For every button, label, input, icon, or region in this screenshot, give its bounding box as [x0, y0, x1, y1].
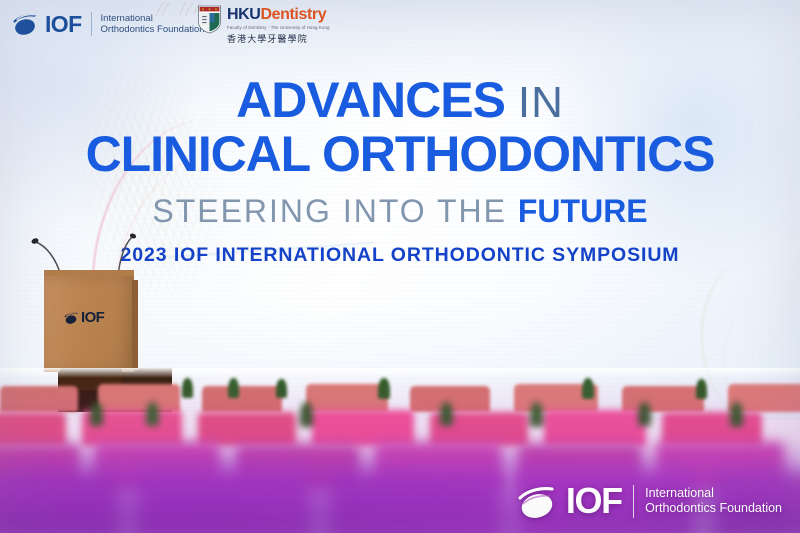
- water-bottle: [638, 402, 651, 426]
- iof-abbrev-top: IOF: [45, 13, 82, 36]
- iof-fullname-line1: International: [101, 13, 205, 24]
- hku-title-row: HKUDentistry: [227, 7, 330, 23]
- water-bottle: [276, 379, 287, 398]
- iof-swoosh-icon: [12, 13, 38, 35]
- hku-wordmark: HKUDentistry Faculty of Dentistry · The …: [227, 4, 330, 45]
- water-bottle: [228, 378, 239, 398]
- podium-iof-logo: IOF: [64, 310, 104, 325]
- water-bottle: [582, 378, 594, 399]
- iof-abbrev-bottom: IOF: [566, 483, 622, 519]
- tagline-light-part: STEERING INTO THE: [152, 193, 518, 229]
- iof-swoosh-icon: [64, 312, 78, 324]
- event-tagline: STEERING INTO THE FUTURE: [0, 193, 800, 230]
- tagline-future: FUTURE: [518, 193, 648, 229]
- iof-swoosh-icon: [517, 485, 557, 518]
- hku-abbrev: HKU: [227, 6, 260, 23]
- iof-logo-bottom: IOF International Orthodontics Foundatio…: [517, 483, 782, 519]
- chair: [0, 472, 120, 533]
- hku-dentistry-logo: HKUDentistry Faculty of Dentistry · The …: [197, 4, 330, 45]
- hku-shield-crest-icon: [197, 4, 222, 34]
- hku-chinese-name: 香港大學牙醫學院: [227, 32, 330, 45]
- iof-divider-bottom: [633, 485, 634, 518]
- hku-faculty-line: Faculty of Dentistry · The University of…: [227, 25, 330, 30]
- water-bottle: [440, 402, 453, 426]
- sponsor-logo-bar: IOF International Orthodontics Foundatio…: [0, 0, 800, 46]
- water-bottle: [696, 379, 707, 399]
- title-in: IN: [518, 78, 564, 127]
- iof-fullname-top: International Orthodontics Foundation: [101, 13, 205, 36]
- title-line-2: CLINICAL ORTHODONTICS: [0, 127, 800, 181]
- conference-stage-photo: IOF International Orthodontics Foundatio…: [0, 0, 800, 533]
- chair: [328, 472, 502, 533]
- water-bottle: [146, 402, 159, 426]
- water-bottle: [530, 402, 543, 427]
- water-bottle: [182, 378, 193, 398]
- hku-dentistry-word: Dentistry: [260, 6, 326, 23]
- iof-fullname-bottom: International Orthodontics Foundation: [645, 486, 782, 516]
- water-bottle: [378, 378, 390, 399]
- title-line-1: ADVANCES IN: [0, 74, 800, 129]
- chair: [136, 470, 312, 533]
- podium-side-panel: [132, 280, 138, 370]
- iof-fullname-line2: Orthodontics Foundation: [101, 24, 205, 35]
- iof-fullname-bottom-line2: Orthodontics Foundation: [645, 501, 782, 516]
- podium-iof-abbrev: IOF: [81, 310, 104, 325]
- title-advances: ADVANCES: [236, 72, 505, 128]
- water-bottle: [730, 402, 743, 427]
- iof-logo-top: IOF International Orthodontics Foundatio…: [12, 12, 205, 36]
- speaker-podium: IOF: [44, 268, 138, 372]
- iof-fullname-bottom-line1: International: [645, 486, 782, 501]
- water-bottle: [90, 402, 103, 426]
- water-bottle: [300, 402, 313, 427]
- iof-divider-top: [91, 12, 92, 36]
